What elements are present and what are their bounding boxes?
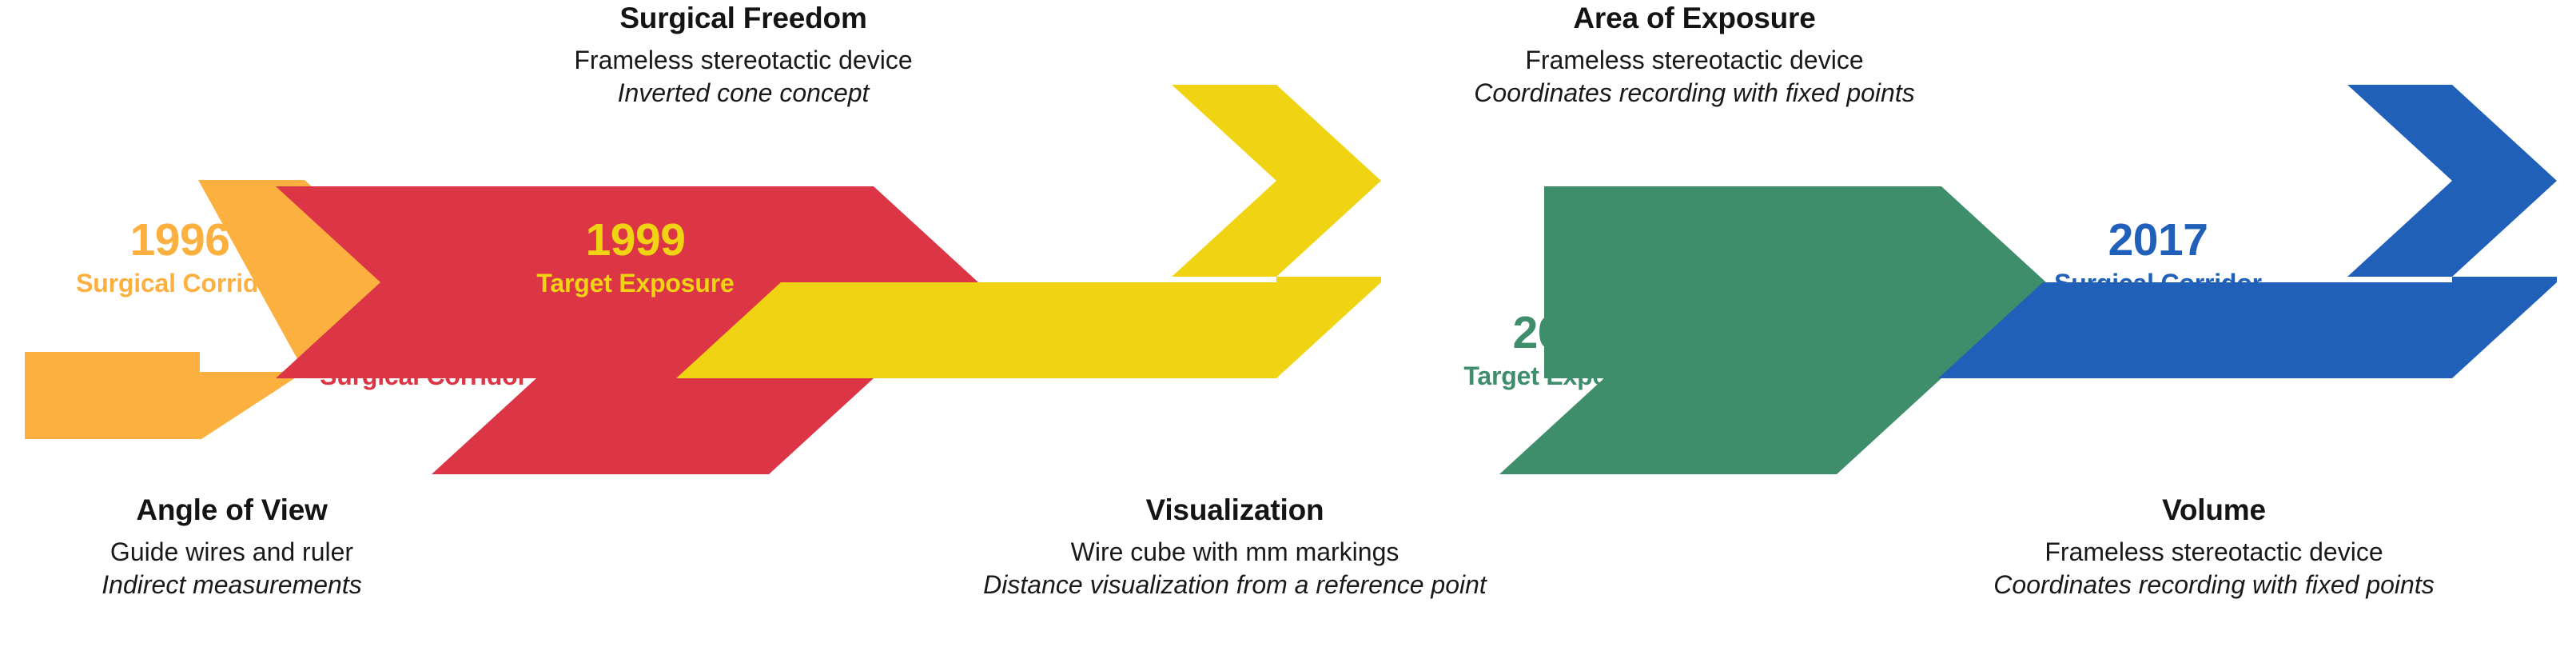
callout-title-1996: Angle of View	[0, 492, 464, 528]
callout-title-2017: Volume	[1854, 492, 2574, 528]
callout-1996: Angle of View Guide wires and ruler Indi…	[0, 492, 464, 601]
callout-1999: Visualization Wire cube with mm markings…	[859, 492, 1610, 601]
stage-label-1998: 1998 Surgical Corridor	[288, 310, 559, 389]
metric-2017: Surgical Corridor	[2022, 270, 2294, 296]
stage-label-1996: 1996 Surgical Corridor	[48, 218, 312, 296]
stage-label-2000: 2000 Target Exposure	[1423, 310, 1702, 389]
callout-line2-2000: Coordinates recording with fixed points	[1375, 78, 2014, 109]
year-1996: 1996	[48, 218, 312, 263]
callout-1998: Surgical Freedom Frameless stereotactic …	[448, 0, 1039, 109]
callout-2017: Volume Frameless stereotactic device Coo…	[1854, 492, 2574, 601]
callout-line1-2017: Frameless stereotactic device	[1854, 537, 2574, 568]
callout-title-1999: Visualization	[859, 492, 1610, 528]
metric-1999: Target Exposure	[496, 270, 775, 296]
year-2017: 2017	[2022, 218, 2294, 263]
callout-line1-1998: Frameless stereotactic device	[448, 45, 1039, 76]
stage-label-1999: 1999 Target Exposure	[496, 218, 775, 296]
callout-2000: Area of Exposure Frameless stereotactic …	[1375, 0, 2014, 109]
stage-label-2017: 2017 Surgical Corridor	[2022, 218, 2294, 296]
metric-1996: Surgical Corridor	[48, 270, 312, 296]
year-1999: 1999	[496, 218, 775, 263]
callout-line2-1999: Distance visualization from a reference …	[859, 569, 1610, 601]
callout-title-1998: Surgical Freedom	[448, 0, 1039, 36]
callout-line1-1996: Guide wires and ruler	[0, 537, 464, 568]
metric-1998: Surgical Corridor	[288, 363, 559, 389]
callout-line2-1998: Inverted cone concept	[448, 78, 1039, 109]
callout-line1-2000: Frameless stereotactic device	[1375, 45, 2014, 76]
timeline-diagram: 1996 Surgical Corridor 1998 Surgical Cor…	[0, 0, 2576, 651]
year-2000: 2000	[1423, 310, 1702, 356]
callout-line1-1999: Wire cube with mm markings	[859, 537, 1610, 568]
year-1998: 1998	[288, 310, 559, 356]
metric-2000: Target Exposure	[1423, 363, 1702, 389]
callout-line2-2017: Coordinates recording with fixed points	[1854, 569, 2574, 601]
callout-line2-1996: Indirect measurements	[0, 569, 464, 601]
callout-title-2000: Area of Exposure	[1375, 0, 2014, 36]
